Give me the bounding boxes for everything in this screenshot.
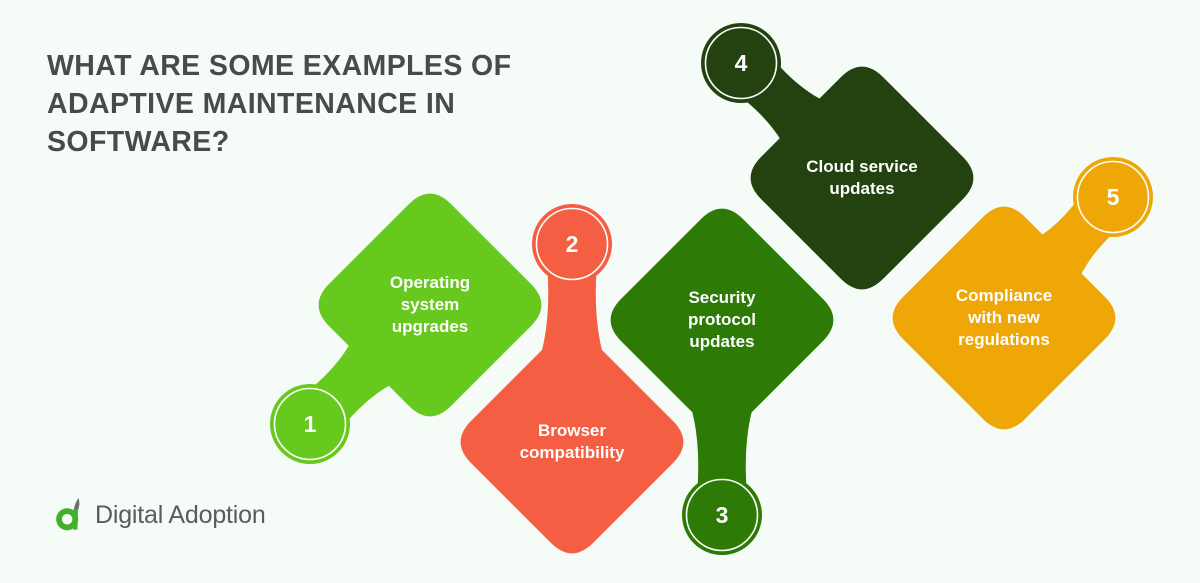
infographic-canvas: WHAT ARE SOME EXAMPLES OF ADAPTIVE MAINT… [0,0,1200,583]
diagram-step-3[interactable]: 3 [611,209,834,555]
step-number: 1 [304,411,317,437]
step-number: 4 [735,50,748,76]
step-number: 3 [716,502,729,528]
digital-adoption-a-logo-icon [54,496,88,534]
step-number: 2 [566,231,579,257]
step-number: 5 [1107,184,1120,210]
brand-logo: Digital Adoption [54,496,266,534]
brand-name: Digital Adoption [95,501,266,530]
